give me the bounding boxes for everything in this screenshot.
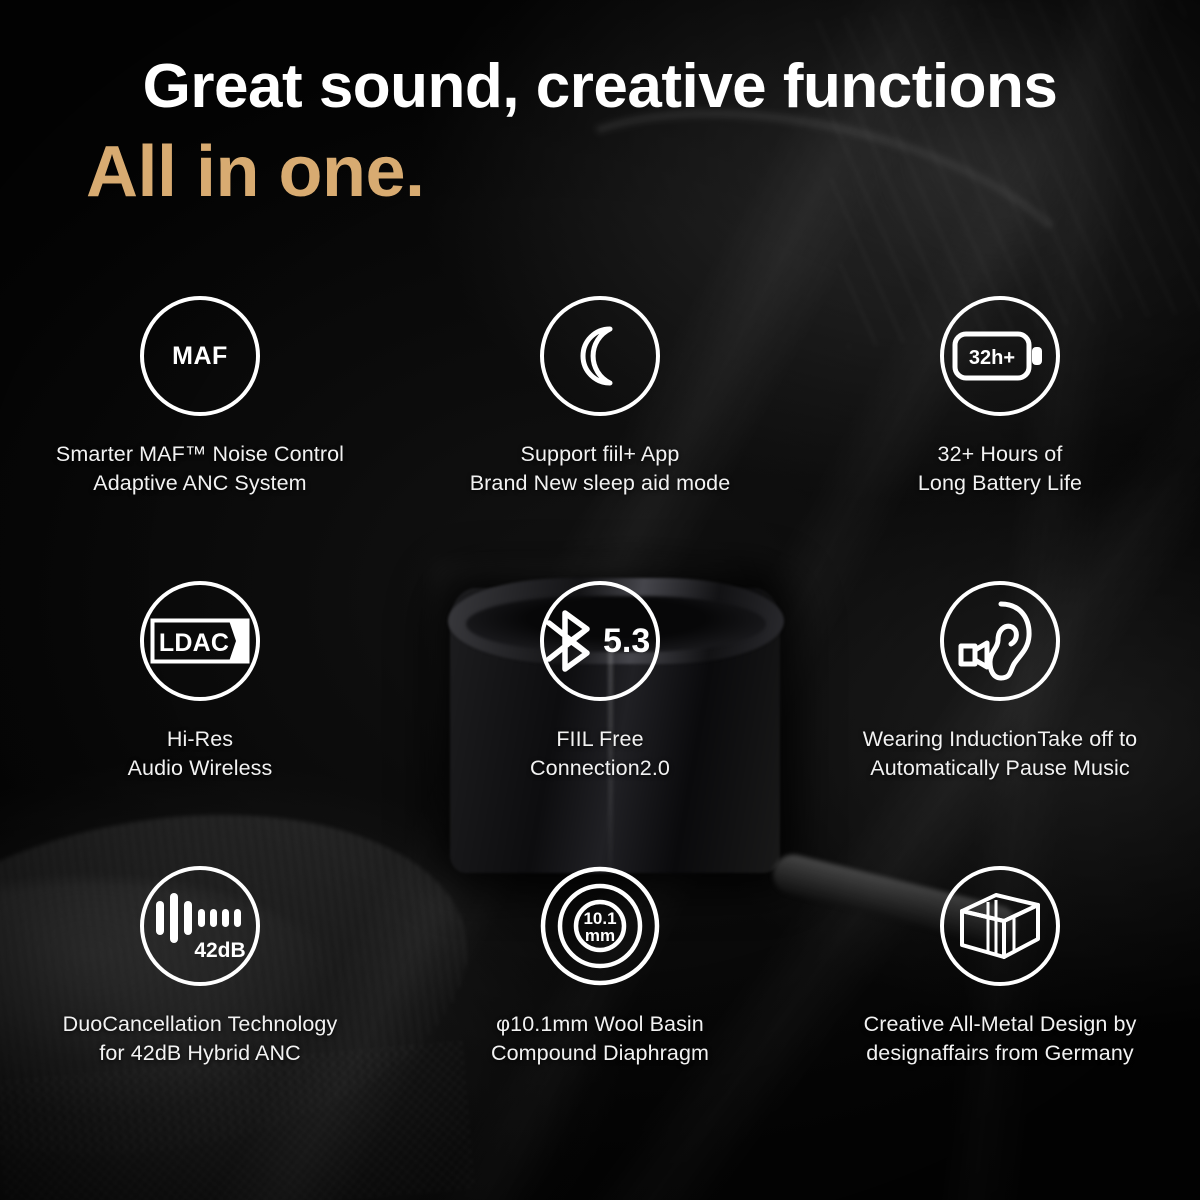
ear-concha (998, 626, 1016, 644)
bluetooth-icon: 5.3 (540, 581, 660, 701)
ear-lobe (990, 640, 1001, 678)
feature-caption: Hi-Res Audio Wireless (128, 725, 273, 782)
feature-item-maf: MAF Smarter MAF™ Noise Control Adaptive … (0, 296, 400, 581)
headline-block: Great sound, creative functions All in o… (0, 54, 1200, 212)
feature-item-metal-design: Creative All-Metal Design by designaffai… (800, 866, 1200, 1151)
feature-caption: FIIL Free Connection2.0 (530, 725, 670, 782)
battery-icon: 32h+ (940, 296, 1060, 416)
battery-icon-label: 32h+ (969, 347, 1015, 369)
product-feature-poster: Great sound, creative functions All in o… (0, 0, 1200, 1200)
anc-depth-label: 42dB (194, 939, 245, 962)
case-front-face (962, 911, 1004, 957)
ldac-badge-wedge (229, 621, 248, 662)
feature-caption: Creative All-Metal Design by designaffai… (864, 1010, 1137, 1067)
feature-item-wear-detection: Wearing InductionTake off to Automatical… (800, 581, 1200, 866)
metal-case-icon (940, 866, 1060, 986)
feature-grid: MAF Smarter MAF™ Noise Control Adaptive … (0, 296, 1200, 1151)
maf-icon-label: MAF (172, 342, 228, 370)
headline-line-2: All in one. (0, 133, 1200, 212)
feature-caption: DuoCancellation Technology for 42dB Hybr… (63, 1010, 338, 1067)
feature-item-driver: 10.1 mm φ10.1mm Wool Basin Compound Diap… (400, 866, 800, 1151)
feature-item-sleep-mode: Support fiil+ App Brand New sleep aid mo… (400, 296, 800, 581)
feature-item-bluetooth: 5.3 FIIL Free Connection2.0 (400, 581, 800, 866)
case-side-face (1004, 905, 1038, 957)
maf-badge-icon: MAF (140, 296, 260, 416)
feature-caption: Smarter MAF™ Noise Control Adaptive ANC … (56, 440, 344, 497)
case-top-face (962, 895, 1038, 921)
ldac-icon-label: LDAC (159, 629, 229, 657)
feature-item-ldac: LDAC Hi-Res Audio Wireless (0, 581, 400, 866)
driver-size-label-line2: mm (585, 926, 615, 945)
ear-wearing-detection-icon (940, 581, 1060, 701)
moon-path (583, 329, 610, 383)
feature-caption: Support fiil+ App Brand New sleep aid mo… (470, 440, 731, 497)
headline-line-1: Great sound, creative functions (0, 54, 1200, 119)
concentric-driver-icon: 10.1 mm (540, 866, 660, 986)
feature-caption: 32+ Hours of Long Battery Life (918, 440, 1082, 497)
feature-item-battery: 32h+ 32+ Hours of Long Battery Life (800, 296, 1200, 581)
feature-caption: Wearing InductionTake off to Automatical… (863, 725, 1138, 782)
feature-item-anc-depth: 42dB DuoCancellation Technology for 42dB… (0, 866, 400, 1151)
feature-caption: φ10.1mm Wool Basin Compound Diaphragm (491, 1010, 709, 1067)
case-seam-lines (988, 900, 996, 955)
ldac-badge-icon: LDAC (140, 581, 260, 701)
soundwave-bars-icon: 42dB (140, 866, 260, 986)
bluetooth-version-label: 5.3 (603, 622, 650, 660)
earbud-tip (975, 643, 987, 667)
soundwave-bar-group (156, 893, 241, 943)
crescent-moon-icon (540, 296, 660, 416)
bluetooth-glyph (549, 613, 587, 669)
battery-terminal (1032, 347, 1042, 365)
